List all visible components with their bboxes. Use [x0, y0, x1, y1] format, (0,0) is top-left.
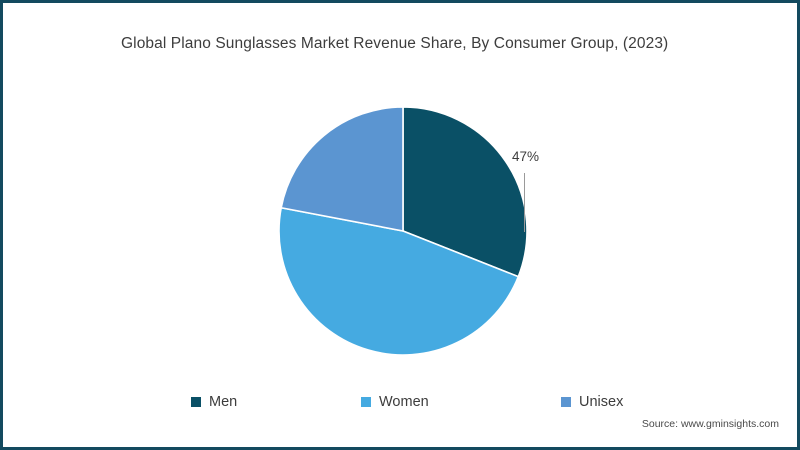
- source-attribution: Source: www.gminsights.com: [642, 418, 779, 430]
- callout-leader-line: [524, 173, 525, 232]
- legend-item-women[interactable]: Women: [361, 395, 429, 410]
- legend-swatch-men: [191, 397, 201, 407]
- legend-swatch-women: [361, 397, 371, 407]
- pie-svg: [279, 107, 527, 355]
- chart-figure: Global Plano Sunglasses Market Revenue S…: [0, 0, 800, 450]
- legend-label-men: Men: [209, 395, 237, 410]
- pie-chart: [279, 107, 527, 355]
- legend-swatch-unisex: [561, 397, 571, 407]
- pie-slice-group: [279, 107, 527, 355]
- legend-label-women: Women: [379, 395, 429, 410]
- legend-label-unisex: Unisex: [579, 395, 623, 410]
- legend: Men Women Unisex: [3, 393, 800, 417]
- slice-label-women: 47%: [512, 149, 539, 164]
- page-title: Global Plano Sunglasses Market Revenue S…: [121, 35, 668, 53]
- legend-item-unisex[interactable]: Unisex: [561, 395, 623, 410]
- legend-item-men[interactable]: Men: [191, 395, 237, 410]
